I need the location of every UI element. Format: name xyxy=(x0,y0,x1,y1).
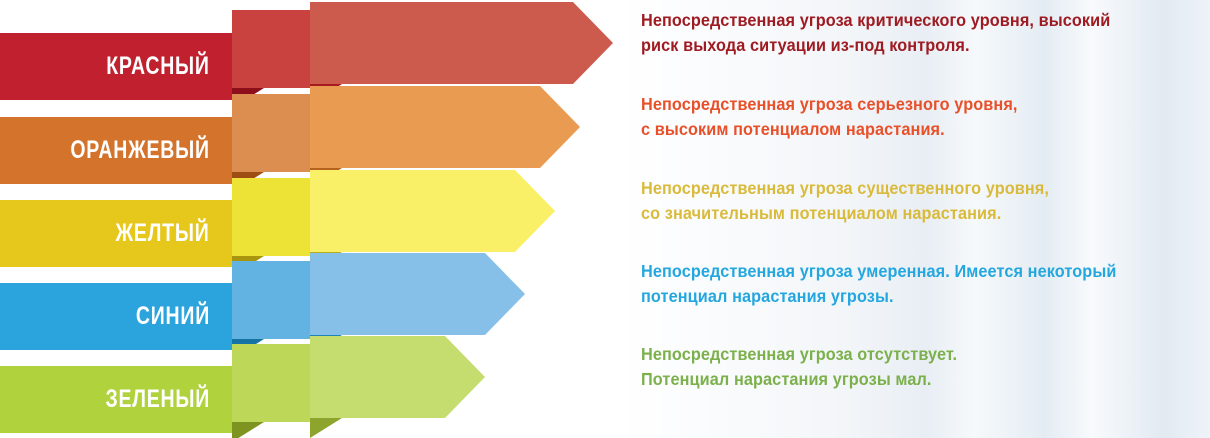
description-line: с высоким потенциалом нарастания. xyxy=(641,117,1018,142)
label-bar-red[interactable]: КРАСНЫЙ xyxy=(0,33,232,100)
description-green: Непосредственная угроза отсутствует.Поте… xyxy=(641,342,981,392)
description-line: Непосредственная угроза серьезного уровн… xyxy=(641,92,1018,117)
description-line: потенциал нарастания угрозы. xyxy=(641,284,1116,309)
fold-shadow-label-green xyxy=(232,422,264,438)
label-bar-green[interactable]: ЗЕЛЕНЫЙ xyxy=(0,366,232,433)
arrow-red xyxy=(310,2,613,84)
arrow-yellow xyxy=(310,170,555,252)
mid-block-red xyxy=(232,10,310,88)
mid-block-yellow xyxy=(232,178,310,256)
mid-block-orange xyxy=(232,94,310,172)
mid-block-blue xyxy=(232,261,310,339)
description-blue: Непосредственная угроза умеренная. Имеет… xyxy=(641,259,1152,309)
description-line: Непосредственная угроза критического уро… xyxy=(641,8,1110,33)
description-orange: Непосредственная угроза серьезного уровн… xyxy=(641,92,1046,142)
arrow-green xyxy=(310,336,485,418)
label-bar-blue[interactable]: СИНИЙ xyxy=(0,283,232,350)
fold-shadow-mid-green xyxy=(310,418,342,438)
description-line: Непосредственная угроза умеренная. Имеет… xyxy=(641,259,1116,284)
label-text-yellow: ЖЕЛТЫЙ xyxy=(116,219,210,248)
description-line: со значительным потенциалом нарастания. xyxy=(641,201,1049,226)
label-text-green: ЗЕЛЕНЫЙ xyxy=(105,385,210,414)
mid-block-green xyxy=(232,344,310,422)
arrow-orange xyxy=(310,86,580,168)
arrow-blue xyxy=(310,253,525,335)
description-line: Непосредственная угроза существенного ур… xyxy=(641,176,1049,201)
description-line: риск выхода ситуации из-под контроля. xyxy=(641,33,1110,58)
infographic-canvas: КРАСНЫЙОРАНЖЕВЫЙЖЕЛТЫЙСИНИЙЗЕЛЕНЫЙ Непос… xyxy=(0,0,1210,438)
label-text-red: КРАСНЫЙ xyxy=(106,52,210,81)
label-text-orange: ОРАНЖЕВЫЙ xyxy=(71,136,210,165)
label-bar-orange[interactable]: ОРАНЖЕВЫЙ xyxy=(0,117,232,184)
description-line: Потенциал нарастания угрозы мал. xyxy=(641,367,957,392)
description-line: Непосредственная угроза отсутствует. xyxy=(641,342,957,367)
description-red: Непосредственная угроза критического уро… xyxy=(641,8,1146,58)
description-yellow: Непосредственная угроза существенного ур… xyxy=(641,176,1080,226)
label-text-blue: СИНИЙ xyxy=(136,302,210,331)
label-bar-yellow[interactable]: ЖЕЛТЫЙ xyxy=(0,200,232,267)
